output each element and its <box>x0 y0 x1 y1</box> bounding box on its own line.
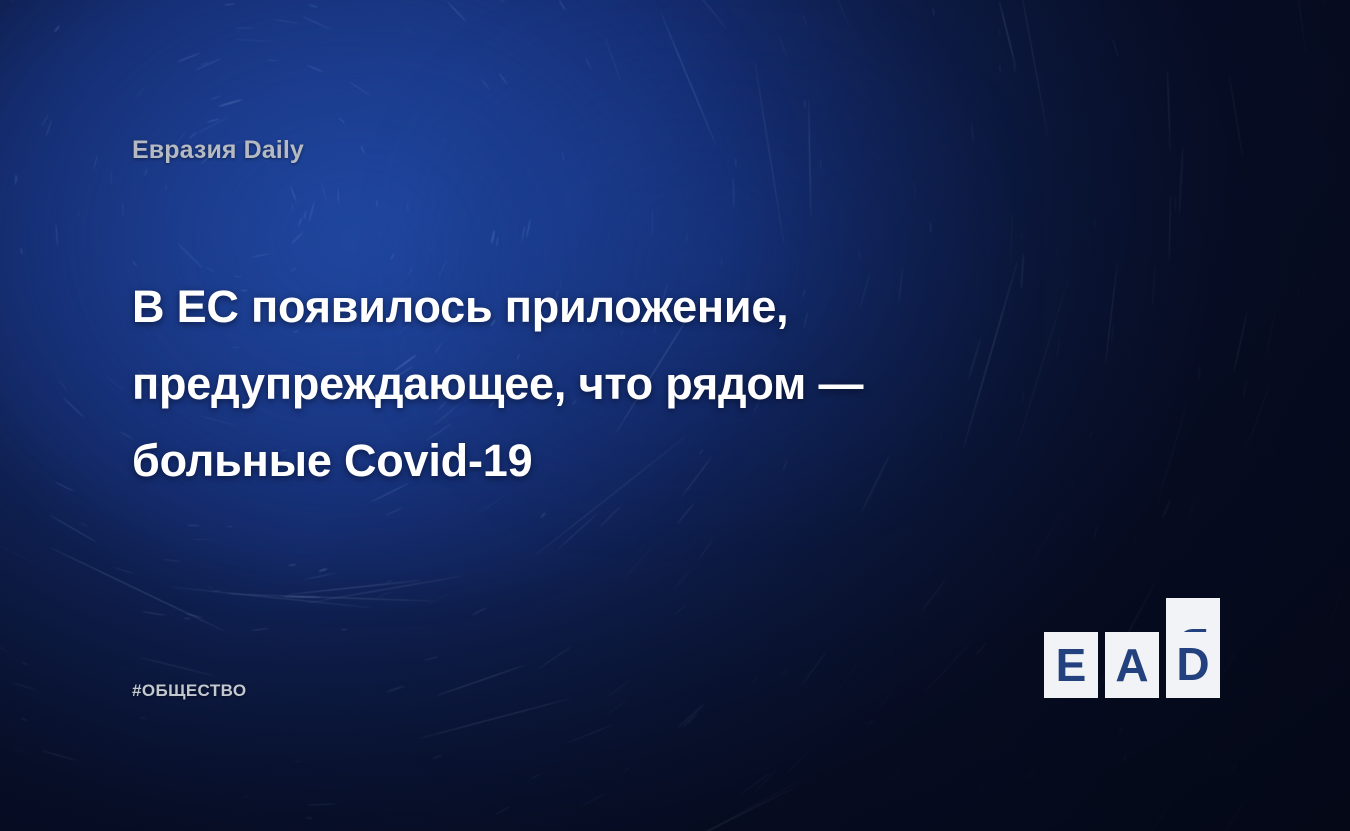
logo-letter-a: A <box>1115 642 1148 688</box>
eadaily-logo: E A D D <box>1044 632 1220 698</box>
logo-tile-stack-d: D D <box>1166 632 1220 698</box>
headline: В ЕС появилось приложение, предупреждающ… <box>132 268 1032 499</box>
logo-tile-a: A <box>1105 632 1159 698</box>
logo-tile-d-bottom: D <box>1166 632 1220 698</box>
logo-tile-e: E <box>1044 632 1098 698</box>
site-name: Евразия Daily <box>132 136 304 165</box>
logo-letter-e: E <box>1056 642 1087 688</box>
logo-letter-d-bottom: D <box>1176 641 1209 687</box>
category-tag: #ОБЩЕСТВО <box>132 681 246 701</box>
news-share-card: Евразия Daily В ЕС появилось приложение,… <box>0 0 1350 831</box>
